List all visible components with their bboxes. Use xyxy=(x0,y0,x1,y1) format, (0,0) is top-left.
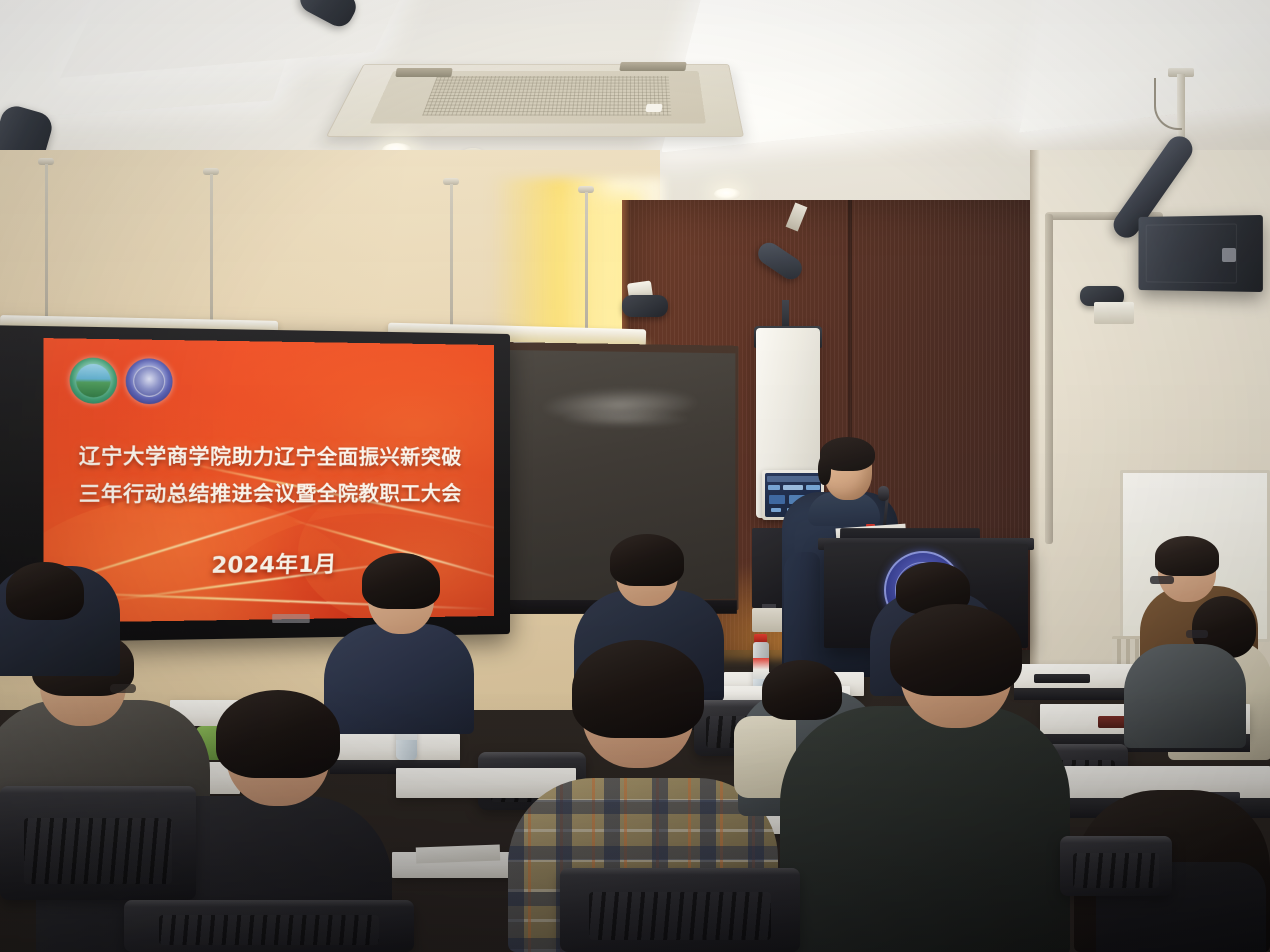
chair-row1-left xyxy=(0,786,196,900)
speaker-brand-logo xyxy=(1222,248,1236,262)
desk-row2-left-b xyxy=(330,734,460,762)
microphone-head-icon xyxy=(878,486,889,501)
chair-row1-right xyxy=(1060,836,1172,896)
screen-title-line-1: 辽宁大学商学院助力辽宁全面振兴新突破 xyxy=(43,439,494,470)
chair-row1-left-lower xyxy=(124,900,414,952)
attendee-dark-left-hair xyxy=(6,562,84,620)
pendant-rod-3 xyxy=(450,184,453,332)
chair-slats xyxy=(1073,853,1158,888)
attendee-gray-coat-right-body xyxy=(1124,644,1246,748)
screen-brand-logo xyxy=(272,614,310,623)
wall-right-trim xyxy=(1030,150,1040,670)
ac-indicator-light xyxy=(645,104,662,112)
ac-grille xyxy=(422,76,671,115)
pendant-rod-2 xyxy=(210,174,213,322)
ceiling-downlight-3 xyxy=(714,188,741,200)
wall-conduit-vertical xyxy=(1045,214,1053,544)
screen-title-line-2: 三年行动总结推进会议暨全院教职工大会 xyxy=(43,477,494,507)
attendee-gray-green-puffer-hair xyxy=(762,660,842,720)
wall-mounted-speaker xyxy=(1138,215,1262,292)
pendant-rod-1 xyxy=(45,164,48,320)
presenter-hair-side xyxy=(818,455,831,485)
chair-slats xyxy=(159,915,379,945)
chair-row1-center xyxy=(560,868,800,952)
attendee-gray-tweed-glasses-icon xyxy=(110,684,136,693)
control-panel-button-3[interactable] xyxy=(806,485,820,490)
chair-rim xyxy=(0,786,196,793)
attendee-navy-blazer-hair xyxy=(362,553,440,609)
chair-slats xyxy=(589,892,771,941)
attendee-dark-suit-hair xyxy=(610,534,684,586)
side-monitor xyxy=(752,528,786,608)
attendee-cream-coat-glasses-icon xyxy=(1186,630,1208,638)
liaoning-university-emblem-icon xyxy=(126,358,173,404)
business-school-emblem-icon xyxy=(70,357,117,404)
control-panel-header xyxy=(767,476,821,482)
attendee-navy-blazer-body xyxy=(324,624,474,734)
control-panel-button-4[interactable] xyxy=(769,495,785,504)
chair-rim xyxy=(1060,836,1172,843)
attendee-plaid-hair xyxy=(572,640,704,738)
conference-room-scene: 辽宁大学商学院助力辽宁全面振兴新突破 三年行动总结推进会议暨全院教职工大会 20… xyxy=(0,0,1270,952)
desk-item-paper xyxy=(416,845,501,864)
attendee-black-puffer-hair xyxy=(216,690,340,778)
ceiling-camera-over-screen xyxy=(622,295,668,317)
chair-rim xyxy=(560,868,800,875)
chalk-smudge-lower xyxy=(560,410,690,428)
pendant-rod-4 xyxy=(585,192,588,332)
control-panel-button-1[interactable] xyxy=(768,485,780,490)
chair-rim xyxy=(124,900,414,907)
attendee-glasses-icon xyxy=(1150,576,1174,584)
attendee-dark-olive-hair xyxy=(890,604,1022,696)
ac-vane-left xyxy=(395,68,452,77)
wall-camera-junction-box xyxy=(1094,302,1134,324)
attendee-brown-coat-hair xyxy=(1155,536,1219,576)
attendee-dark-olive-body xyxy=(780,706,1070,952)
control-panel-button-2[interactable] xyxy=(783,485,803,490)
chair-rim xyxy=(478,752,586,759)
chair-slats xyxy=(24,818,173,884)
desk-far-right-front xyxy=(1014,688,1134,700)
control-panel-button-6[interactable] xyxy=(771,508,781,512)
desk-item-remote xyxy=(1034,674,1090,683)
screen-logo-row xyxy=(70,357,173,404)
ac-vane-right xyxy=(619,62,686,71)
